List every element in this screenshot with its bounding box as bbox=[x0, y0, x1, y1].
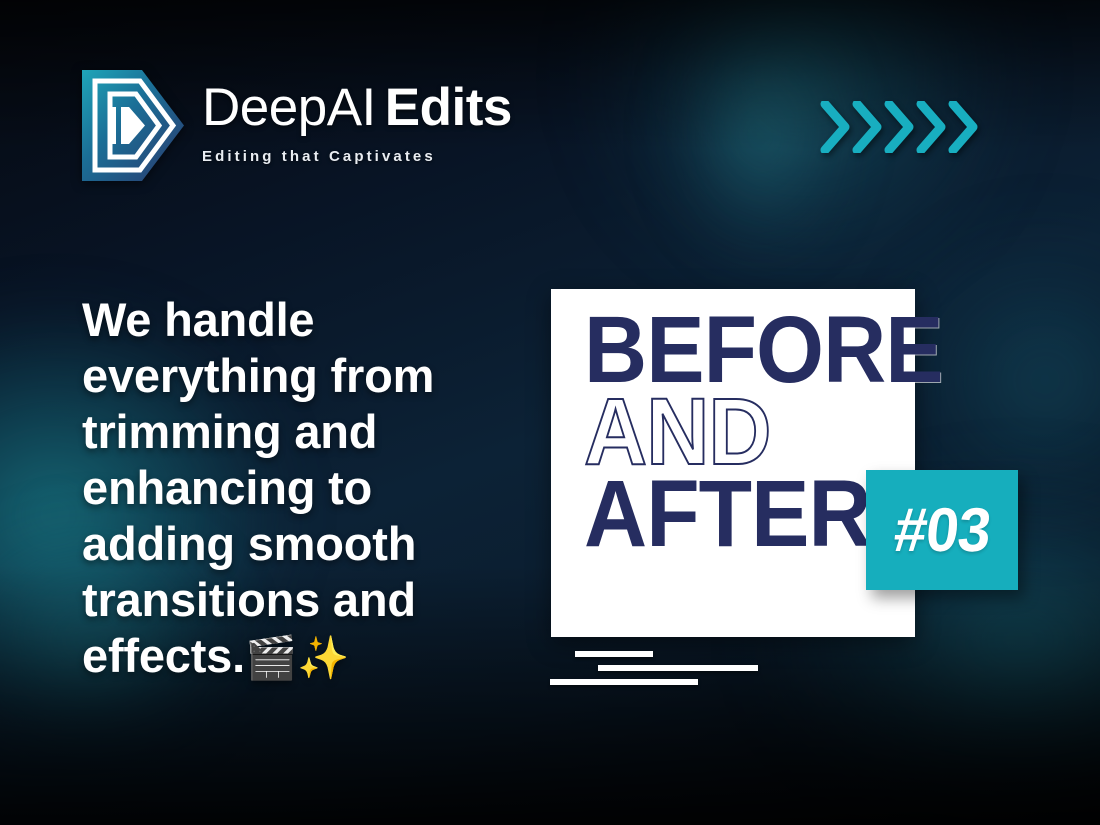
chevron-right-icon bbox=[916, 101, 946, 153]
headline-text: We handle everything from trimming and e… bbox=[82, 292, 502, 686]
poster-canvas: DeepAIEdits Editing that Captivates We h… bbox=[0, 0, 1100, 825]
brand-tagline: Editing that Captivates bbox=[202, 148, 512, 165]
deco-bar-short bbox=[575, 651, 653, 657]
chevron-decoration-row bbox=[820, 101, 978, 153]
deco-bar-long bbox=[550, 679, 698, 685]
before-after-card: BEFORE AND AFTER bbox=[551, 289, 915, 637]
chevron-right-icon bbox=[884, 101, 914, 153]
brand-name-bold: Edits bbox=[385, 78, 512, 137]
deco-bar-medium bbox=[598, 665, 758, 671]
card-line-after: AFTER bbox=[584, 475, 860, 555]
chevron-right-icon bbox=[948, 101, 978, 153]
headline-emoji: 🎬✨ bbox=[245, 633, 349, 682]
headline-copy: We handle everything from trimming and e… bbox=[82, 293, 434, 682]
card-typography-block: BEFORE AND AFTER bbox=[584, 311, 884, 554]
episode-number-label: #03 bbox=[891, 495, 994, 566]
episode-number-badge: #03 bbox=[866, 470, 1018, 590]
brand-logo-lockup: DeepAIEdits Editing that Captivates bbox=[80, 68, 512, 183]
brand-name-light: DeepAI bbox=[202, 78, 376, 137]
chevron-right-icon bbox=[852, 101, 882, 153]
brand-wordmark: DeepAIEdits bbox=[202, 81, 512, 134]
brand-wordmark-group: DeepAIEdits Editing that Captivates bbox=[202, 68, 512, 165]
chevron-right-icon bbox=[820, 101, 850, 153]
deepai-hexagon-play-logo-icon bbox=[80, 68, 186, 183]
